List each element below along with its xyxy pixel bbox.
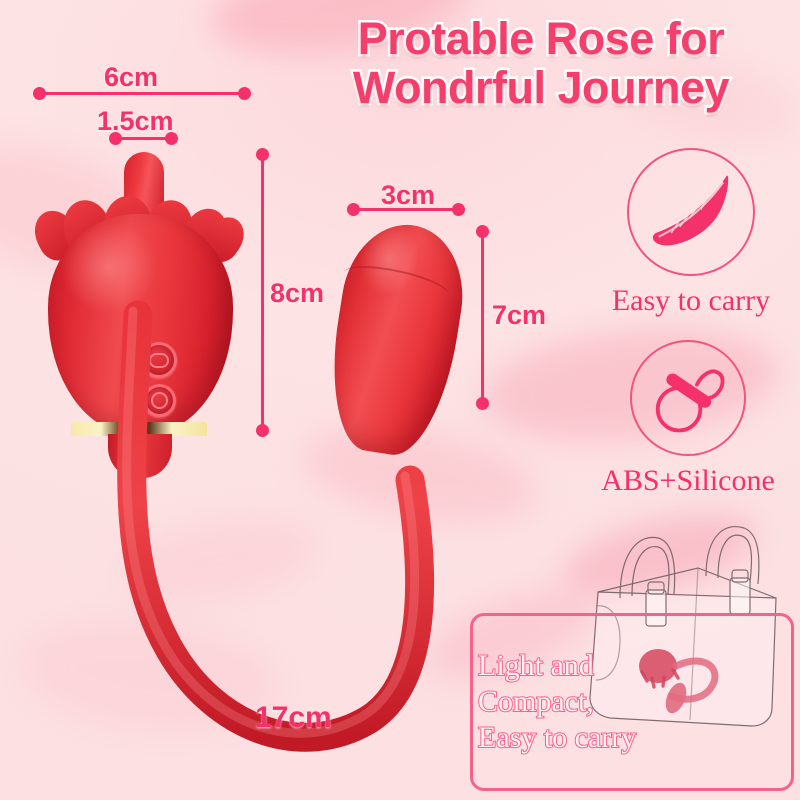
feature-badge-circle — [627, 148, 755, 276]
dimension-line-3cm — [354, 208, 458, 211]
dimension-endpoint — [347, 203, 360, 216]
bottom-panel-line-2: Compact, — [478, 684, 708, 720]
feature-badge-label: ABS+Silicone — [578, 464, 798, 498]
feature-badge-circle — [630, 340, 746, 456]
infographic-canvas: Protable Rose for Wondrful Journey — [0, 0, 800, 800]
dimension-endpoint — [476, 397, 489, 410]
feature-badge-easy-to-carry: Easy to carry — [596, 148, 786, 318]
feature-badge-abs-silicone: ABS+Silicone — [578, 340, 798, 498]
bottom-panel-text: Light and Compact, Easy to carry — [478, 648, 708, 756]
egg-body — [319, 216, 474, 462]
dimension-endpoint — [109, 132, 122, 145]
bottom-panel-line-3: Easy to carry — [478, 720, 708, 756]
dimension-label-6cm: 6cm — [104, 62, 158, 93]
dimension-label-1-5cm: 1.5cm — [97, 106, 174, 137]
feature-badge-label: Easy to carry — [596, 284, 786, 318]
dimension-label-17cm: 17cm — [255, 701, 332, 735]
dimension-endpoint — [452, 203, 465, 216]
feather-icon — [629, 150, 753, 274]
dimension-line-6cm — [40, 92, 244, 95]
bottom-panel-line-1: Light and — [478, 648, 708, 684]
dimension-line-8cm — [261, 155, 264, 427]
dimension-endpoint — [256, 148, 269, 161]
dimension-endpoint — [256, 424, 269, 437]
dimension-endpoint — [33, 87, 46, 100]
dimension-endpoint — [165, 132, 178, 145]
dimension-endpoint — [476, 225, 489, 238]
dimension-line-1-5cm — [116, 137, 171, 140]
headline: Protable Rose for Wondrful Journey — [288, 14, 794, 112]
egg-bullet — [336, 224, 456, 454]
dimension-label-8cm: 8cm — [270, 278, 324, 309]
headline-line-2: Wondrful Journey — [288, 63, 794, 112]
headline-line-1: Protable Rose for — [288, 14, 794, 63]
dimension-line-7cm — [481, 232, 484, 400]
dimension-label-3cm: 3cm — [381, 180, 435, 211]
pacifier-icon — [632, 342, 744, 454]
dimension-endpoint — [238, 87, 251, 100]
dimension-label-7cm: 7cm — [492, 300, 546, 331]
